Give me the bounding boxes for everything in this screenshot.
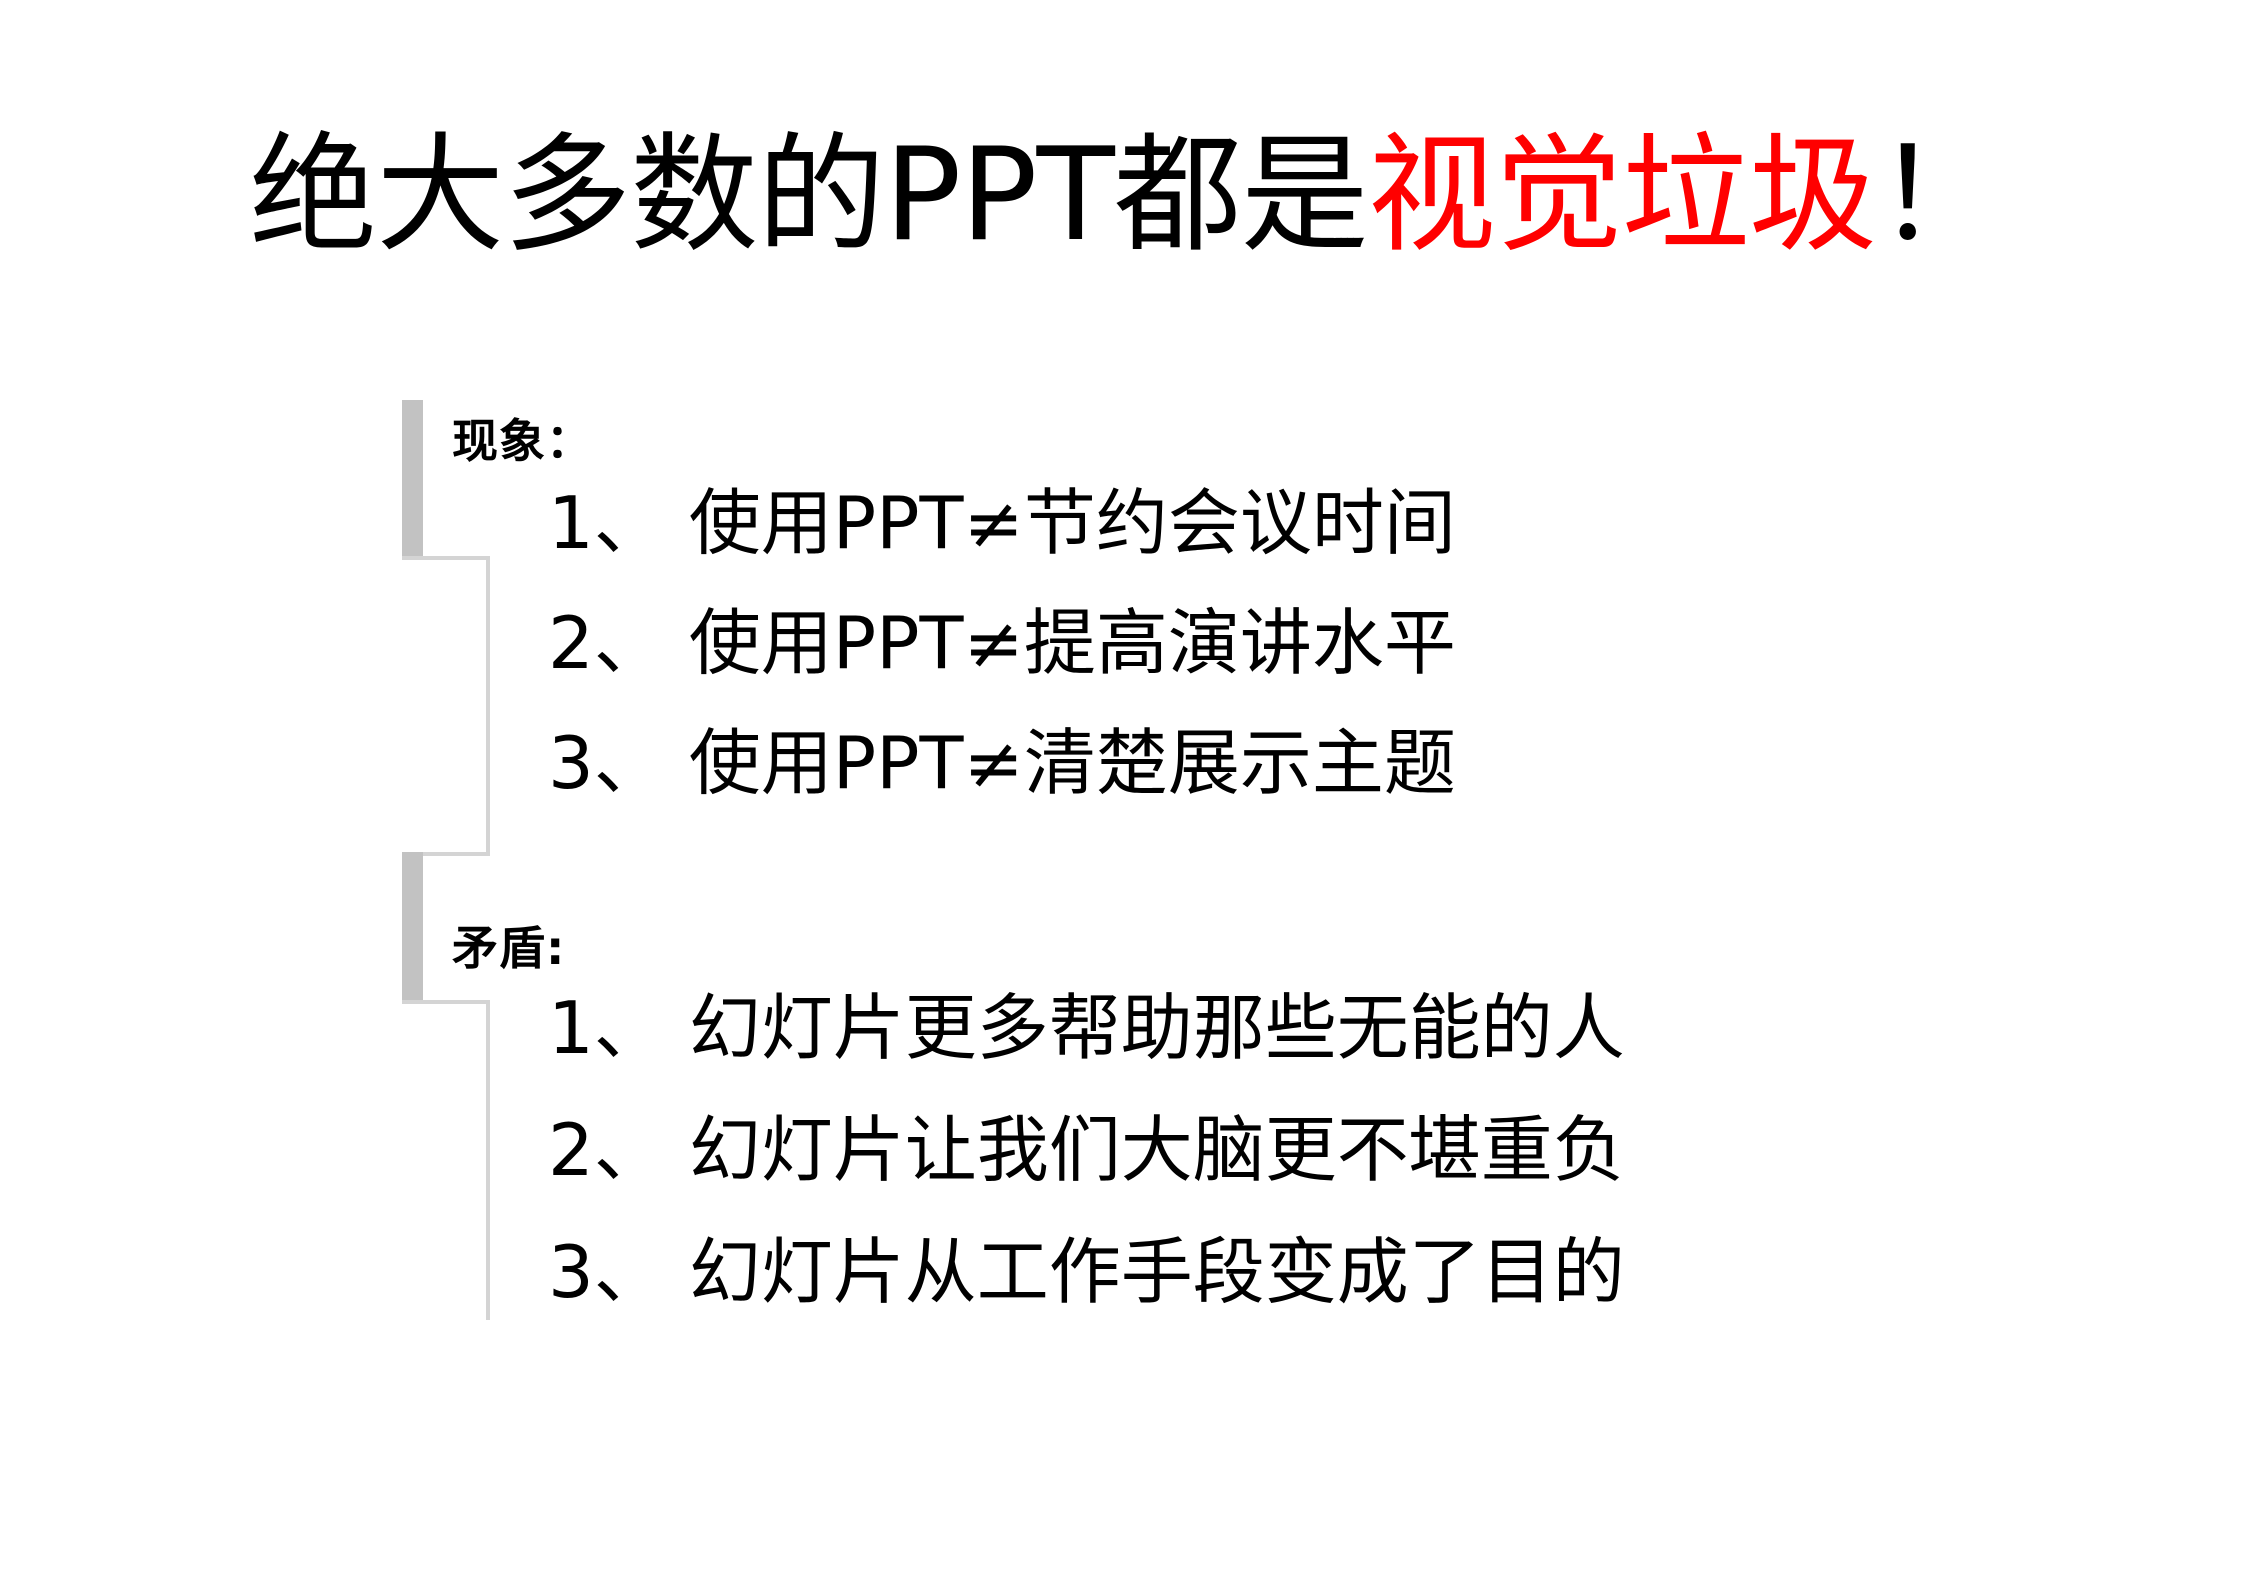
- bullet-list-phenomenon: 1、 使用PPT≠节约会议时间 2、 使用PPT≠提高演讲水平 3、 使用PPT…: [548, 487, 1456, 847]
- bullet-item: 3、 使用PPT≠清楚展示主题: [548, 727, 1456, 799]
- bullet-item: 1、 幻灯片更多帮助那些无能的人: [548, 992, 1625, 1064]
- bracket-1-top-stub: [402, 556, 490, 560]
- section-header-contradiction: 矛盾:: [452, 912, 565, 978]
- bullet-item: 2、 幻灯片让我们大脑更不堪重负: [548, 1114, 1625, 1186]
- bracket-2-vertical-line: [486, 1000, 490, 1320]
- section-accent-bar-1: [402, 400, 423, 558]
- slide-title-suffix: ！: [1876, 121, 2003, 270]
- slide-title: 绝大多数的PPT都是视觉垃圾！: [0, 132, 2252, 260]
- slide-title-highlight: 视觉垃圾: [1368, 121, 1876, 270]
- bullet-item: 3、 幻灯片从工作手段变成了目的: [548, 1236, 1625, 1308]
- bullet-item: 1、 使用PPT≠节约会议时间: [548, 487, 1456, 559]
- bracket-1-vertical-line: [486, 556, 490, 856]
- bracket-2-top-stub: [402, 1000, 490, 1004]
- section-header-phenomenon: 现象：: [452, 405, 593, 471]
- presentation-slide: 绝大多数的PPT都是视觉垃圾！ 现象： 1、 使用PPT≠节约会议时间 2、 使…: [0, 0, 2252, 1594]
- bullet-item: 2、 使用PPT≠提高演讲水平: [548, 607, 1456, 679]
- bullet-list-contradiction: 1、 幻灯片更多帮助那些无能的人 2、 幻灯片让我们大脑更不堪重负 3、 幻灯片…: [548, 992, 1625, 1358]
- slide-title-prefix: 绝大多数的PPT都是: [249, 121, 1368, 270]
- section-accent-bar-2: [402, 852, 423, 1004]
